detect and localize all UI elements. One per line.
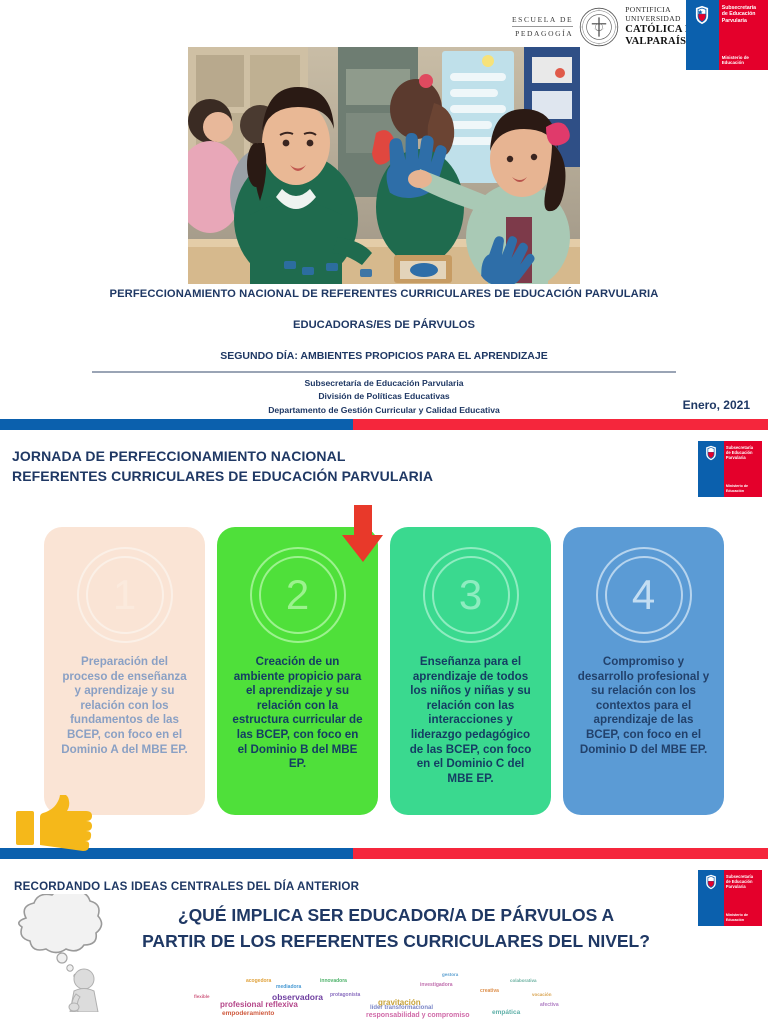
gov-logo-blue-panel — [686, 0, 719, 70]
cover-photo — [188, 47, 580, 284]
escuela-line-1: ESCUELA DE — [512, 15, 573, 27]
chile-coat-of-arms-icon — [704, 874, 718, 890]
person-thinking-with-thought-bubble-icon — [4, 894, 114, 1012]
flag-bar-blue — [0, 419, 353, 430]
gov-logo-red-panel: Subsecretaría de Educación Parvularia Mi… — [724, 870, 762, 926]
gov-subsecretaria-label: Subsecretaría de Educación Parvularia — [724, 870, 762, 889]
cover-title-line-2: EDUCADORAS/ES DE PÁRVULOS — [0, 319, 768, 331]
cover-titles: PERFECCIONAMIENTO NACIONAL DE REFERENTES… — [0, 288, 768, 362]
module-card-text: Creación de un ambiente propicio para el… — [227, 655, 368, 772]
module-card-1[interactable]: 1 Preparación del proceso de enseñanza y… — [44, 527, 205, 815]
gov-min-l2: Educación — [726, 918, 748, 922]
escuela-pedagogia-label: ESCUELA DE PEDAGOGÍA — [512, 15, 573, 40]
module-number-ring: 3 — [423, 547, 519, 643]
gov-sub-l3: Parvularia — [726, 884, 761, 889]
word-cloud-word: empática — [492, 1009, 520, 1016]
presentation-page: ESCUELA DE PEDAGOGÍA PONTIFICIA UNIVERSI… — [0, 0, 768, 1024]
module-card-2[interactable]: 2 Creación de un ambiente propicio para … — [217, 527, 378, 815]
gov-logo-slide2: Subsecretaría de Educación Parvularia Mi… — [698, 441, 762, 497]
gov-logo-red-panel: Subsecretaría de Educación Parvularia Mi… — [719, 0, 768, 70]
dept-line-1: Subsecretaría de Educación Parvularia — [0, 377, 768, 390]
word-cloud-word: líder transformacional — [370, 1005, 433, 1011]
word-cloud-word: colaborativa — [510, 978, 537, 983]
gov-logo-slide3: Subsecretaría de Educación Parvularia Mi… — [698, 870, 762, 926]
word-cloud-word: afectiva — [540, 1002, 559, 1008]
slide-cover: ESCUELA DE PEDAGOGÍA PONTIFICIA UNIVERSI… — [0, 0, 768, 425]
word-cloud: profesional reflexivaobservadoragravitac… — [180, 958, 600, 1024]
gov-logo-blue-panel — [698, 441, 724, 497]
chile-coat-of-arms-icon — [693, 5, 711, 25]
red-down-arrow-icon — [341, 505, 385, 563]
module-number-ring: 1 — [77, 547, 173, 643]
module-card-3[interactable]: 3 Enseñanza para el aprendizaje de todos… — [390, 527, 551, 815]
word-cloud-word: flexible — [194, 994, 210, 999]
word-cloud-word: responsabilidad y compromiso — [366, 1012, 469, 1019]
jornada-heading: JORNADA DE PERFECCIONAMIENTO NACIONAL RE… — [12, 447, 433, 486]
gov-subsecretaria-label: Subsecretaría de Educación Parvularia — [719, 0, 768, 24]
gov-ministerio-label: Ministerio de Educación — [726, 913, 748, 922]
gov-min-l2: Educación — [726, 489, 748, 493]
jornada-heading-line-1: JORNADA DE PERFECCIONAMIENTO NACIONAL — [12, 447, 433, 467]
gov-ministerio-label: Ministerio de Educación — [726, 484, 748, 493]
question-line-2: PARTIR DE LOS REFERENTES CURRICULARES DE… — [116, 928, 676, 954]
word-cloud-word: innovadora — [320, 978, 347, 984]
jornada-heading-line-2: REFERENTES CURRICULARES DE EDUCACIÓN PAR… — [12, 467, 433, 487]
word-cloud-word: gestora — [442, 972, 458, 977]
module-number: 2 — [250, 547, 346, 643]
word-cloud-word: mediadora — [276, 984, 301, 990]
chile-coat-of-arms-icon — [704, 445, 718, 461]
cover-department-block: Subsecretaría de Educación Parvularia Di… — [0, 377, 768, 417]
word-cloud-word: creativa — [480, 988, 499, 994]
gov-subsecretaria-label: Subsecretaría de Educación Parvularia — [724, 441, 762, 460]
gov-logo-blue-panel — [698, 870, 724, 926]
cover-divider-rule — [92, 371, 676, 373]
word-cloud-word: observadora — [272, 992, 323, 1002]
flag-bar-2 — [0, 848, 768, 859]
recordando-heading: RECORDANDO LAS IDEAS CENTRALES DEL DÍA A… — [14, 880, 359, 893]
module-cards: 1 Preparación del proceso de enseñanza y… — [44, 527, 724, 815]
slide-recordando: RECORDANDO LAS IDEAS CENTRALES DEL DÍA A… — [0, 866, 768, 1024]
gov-ministerio-label: Ministerio de Educación — [722, 55, 749, 66]
cover-title-line-1: PERFECCIONAMIENTO NACIONAL DE REFERENTES… — [0, 288, 768, 300]
module-card-4[interactable]: 4 Compromiso y desarrollo profesional y … — [563, 527, 724, 815]
pucv-logo: ESCUELA DE PEDAGOGÍA PONTIFICIA UNIVERSI… — [512, 6, 700, 48]
question-line-1: ¿QUÉ IMPLICA SER EDUCADOR/A DE PÁRVULOS … — [116, 902, 676, 928]
word-cloud-word: vocación — [532, 992, 552, 997]
module-number: 1 — [77, 547, 173, 643]
word-cloud-word: investigadora — [420, 982, 453, 988]
module-number-ring: 2 — [250, 547, 346, 643]
module-number-ring: 4 — [596, 547, 692, 643]
cover-date: Enero, 2021 — [683, 398, 750, 412]
thumbs-up-icon — [14, 795, 106, 851]
flag-bar-1 — [0, 419, 768, 430]
flag-bar-red — [353, 848, 768, 859]
escuela-line-2: PEDAGOGÍA — [512, 27, 573, 40]
word-cloud-word: empoderamiento — [222, 1010, 274, 1017]
recordando-question: ¿QUÉ IMPLICA SER EDUCADOR/A DE PÁRVULOS … — [116, 902, 676, 955]
university-seal-icon — [579, 7, 619, 47]
dept-line-2: División de Políticas Educativas — [0, 390, 768, 403]
dept-line-3: Departamento de Gestión Curricular y Cal… — [0, 404, 768, 417]
module-number: 3 — [423, 547, 519, 643]
gov-sub-l3: Parvularia — [722, 18, 766, 25]
flag-bar-red — [353, 419, 768, 430]
module-card-text: Preparación del proceso de enseñanza y a… — [54, 655, 195, 757]
gov-sub-l3: Parvularia — [726, 455, 761, 460]
module-card-text: Compromiso y desarrollo profesional y su… — [573, 655, 714, 757]
gov-logo-red-panel: Subsecretaría de Educación Parvularia Mi… — [724, 441, 762, 497]
slide-jornada: JORNADA DE PERFECCIONAMIENTO NACIONAL RE… — [0, 437, 768, 855]
classroom-photo-illustration — [188, 47, 580, 284]
gov-logo-cover: Subsecretaría de Educación Parvularia Mi… — [686, 0, 768, 70]
cover-title-line-3: SEGUNDO DÍA: AMBIENTES PROPICIOS PARA EL… — [0, 350, 768, 362]
module-number: 4 — [596, 547, 692, 643]
gov-min-l2: Educación — [722, 60, 749, 65]
word-cloud-word: acogedora — [246, 978, 271, 984]
module-card-text: Enseñanza para el aprendizaje de todos l… — [400, 655, 541, 786]
word-cloud-word: protagonista — [330, 992, 360, 998]
